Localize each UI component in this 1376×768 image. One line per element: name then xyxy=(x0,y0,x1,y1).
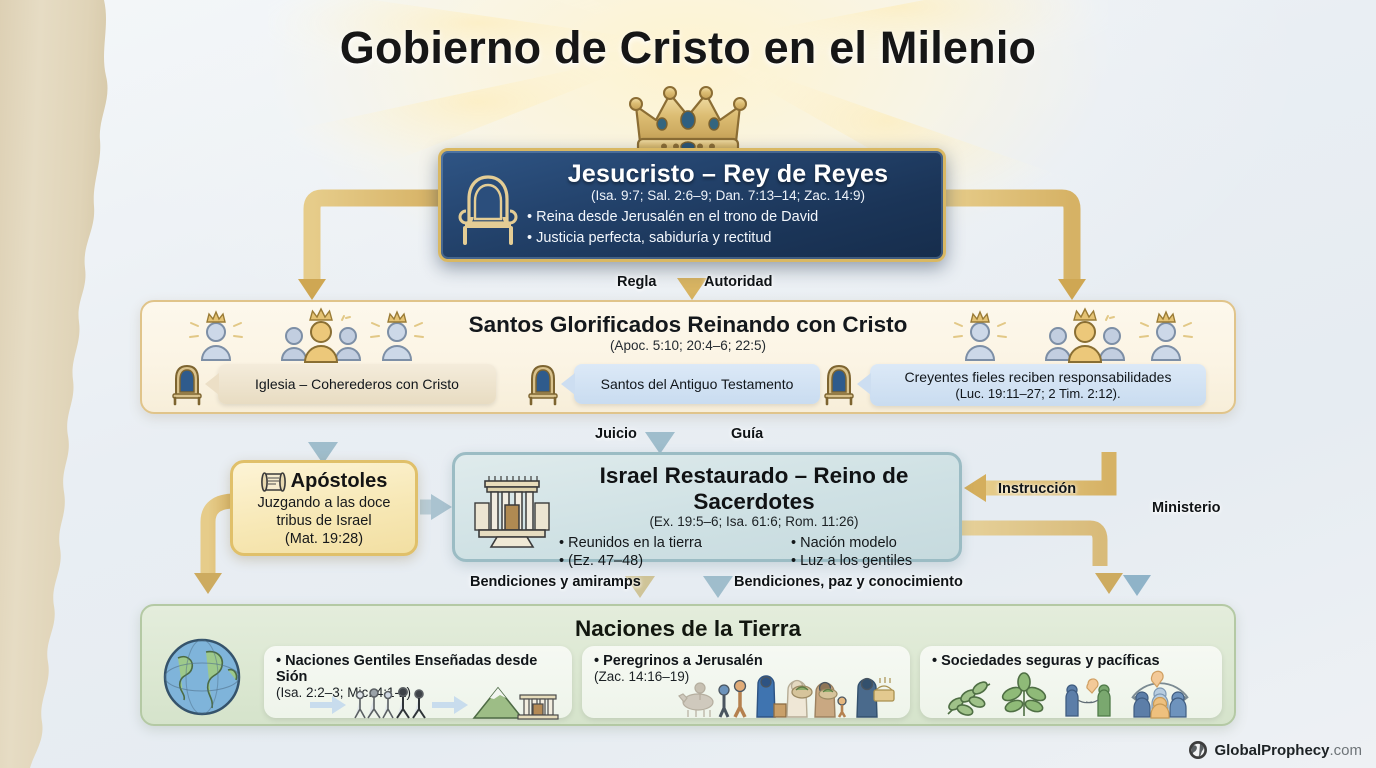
israel-bullet-r1: Nación modelo xyxy=(791,534,912,552)
israel-title: Israel Restaurado – Reino de Sacerdotes xyxy=(559,463,949,515)
christ-title: Jesucristo – Rey de Reyes xyxy=(527,160,929,189)
saints-pill-3-ref: (Luc. 19:11–27; 2 Tim. 2:12). xyxy=(955,386,1120,402)
saints-pill-1-label: Iglesia – Coherederos con Cristo xyxy=(255,376,459,393)
connector-label-regla: Regla xyxy=(617,274,657,290)
christ-refs: (Isa. 9:7; Sal. 2:6–9; Dan. 7:13–14; Zac… xyxy=(527,188,929,203)
nations-card-1: Naciones Gentiles Enseñadas desde Sión (… xyxy=(264,646,572,718)
nations-card-3-heading: Sociedades seguras y pacíficas xyxy=(932,653,1212,669)
throne-icon-1 xyxy=(170,363,204,405)
connector-label-instruccion: Instrucción xyxy=(998,481,1076,497)
saints-pill-3-label: Creyentes fieles reciben responsabilidad… xyxy=(905,369,1172,386)
page-title: Gobierno de Cristo en el Milenio xyxy=(0,22,1376,74)
footer-brand-name: GlobalProphecy xyxy=(1214,742,1329,759)
apostles-ref: (Mat. 19:28) xyxy=(233,531,415,549)
footer-brand[interactable]: GlobalProphecy.com xyxy=(1188,740,1362,760)
glorified-saints-panel: Santos Glorificados Reinando con Cristo … xyxy=(140,300,1236,414)
peaceful-society-illustration xyxy=(940,668,1210,718)
christ-bullet-1: Reina desde Jerusalén en el trono de Dav… xyxy=(527,207,929,228)
crowned-saints-group-right xyxy=(950,310,1200,366)
apostles-body: Juzgando a las doce tribus de Israel (Ma… xyxy=(233,495,415,549)
saints-pill-1[interactable]: Iglesia – Coherederos con Cristo xyxy=(218,364,496,404)
connector-label-bendiciones-amiramps: Bendiciones y amiramps xyxy=(470,574,641,590)
temple-icon xyxy=(471,473,553,551)
connector-label-ministerio: Ministerio xyxy=(1152,500,1220,516)
israel-bullet-r2: Luz a los gentiles xyxy=(791,552,912,570)
israel-restored-box: Israel Restaurado – Reino de Sacerdotes … xyxy=(452,452,962,562)
nations-title: Naciones de la Tierra xyxy=(142,616,1234,642)
globe-icon xyxy=(158,636,246,718)
nations-panel: Naciones de la Tierra Naciones Gentiles … xyxy=(140,604,1236,726)
israel-bullets-left: Reunidos en la tierra (Ez. 47–48) xyxy=(559,534,769,571)
nations-card-2: Peregrinos a Jerusalén (Zac. 14:16–19) xyxy=(582,646,910,718)
saints-pill-3[interactable]: Creyentes fieles reciben responsabilidad… xyxy=(870,364,1206,406)
arrow-right-icon xyxy=(310,696,346,714)
mountain-temple-icon xyxy=(518,695,558,719)
nations-card-3: Sociedades seguras y pacíficas xyxy=(920,646,1222,718)
infographic-canvas: Gobierno de Cristo en el Milenio J xyxy=(0,0,1376,768)
connector-label-guia: Guía xyxy=(731,426,763,442)
christ-bullets: Reina desde Jerusalén en el trono de Dav… xyxy=(527,207,929,248)
apostles-box: Apóstoles Juzgando a las doce tribus de … xyxy=(230,460,418,556)
footer-brand-tld: .com xyxy=(1329,742,1362,759)
israel-bullet-l1: Reunidos en la tierra xyxy=(559,534,769,552)
nations-card-2-heading: Peregrinos a Jerusalén xyxy=(594,653,900,669)
community-group-icon xyxy=(1132,671,1188,718)
walking-people-icon xyxy=(355,688,425,718)
christ-bullet-2: Justicia perfecta, sabiduría y rectitud xyxy=(527,228,929,249)
apostles-line1: Juzgando a las doce xyxy=(233,495,415,513)
olive-branch-icon xyxy=(947,680,990,717)
two-people-heart-icon xyxy=(1066,679,1110,716)
israel-bullets-right: Nación modelo Luz a los gentiles xyxy=(791,534,912,571)
israel-refs: (Ex. 19:5–6; Isa. 61:6; Rom. 11:26) xyxy=(559,514,949,529)
scroll-icon xyxy=(261,471,286,493)
plant-icon xyxy=(1001,673,1048,716)
throne-icon-2 xyxy=(526,363,560,405)
pilgrims-illustration xyxy=(676,670,906,718)
teaching-from-zion-illustration xyxy=(308,686,568,720)
apostles-title: Apóstoles xyxy=(291,470,388,493)
saints-pill-2-label: Santos del Antiguo Testamento xyxy=(601,376,794,393)
nations-card-1-heading: Naciones Gentiles Enseñadas desde Sión xyxy=(276,653,562,685)
christ-king-banner: Jesucristo – Rey de Reyes (Isa. 9:7; Sal… xyxy=(438,148,946,262)
throne-icon-3 xyxy=(822,363,856,405)
israel-bullet-l2: (Ez. 47–48) xyxy=(559,552,769,570)
israel-bullet-columns: Reunidos en la tierra (Ez. 47–48) Nación… xyxy=(559,534,949,571)
connector-label-bendiciones-paz: Bendiciones, paz y conocimiento xyxy=(734,574,963,590)
throne-icon xyxy=(457,173,519,245)
arrow-right-icon xyxy=(432,696,468,714)
donkey-rider-icon xyxy=(679,683,713,717)
apostles-line2: tribus de Israel xyxy=(233,513,415,531)
connector-label-autoridad: Autoridad xyxy=(704,274,772,290)
crowned-saints-group-left xyxy=(176,310,426,366)
crown-icon xyxy=(624,84,752,156)
footer-brand-text: GlobalProphecy.com xyxy=(1214,742,1362,759)
parchment-edge xyxy=(0,0,132,768)
saints-pill-2[interactable]: Santos del Antiguo Testamento xyxy=(574,364,820,404)
connector-label-juicio: Juicio xyxy=(595,426,637,442)
saints-pill-row: Iglesia – Coherederos con Cristo Santos … xyxy=(156,364,1220,408)
globe-logo-icon xyxy=(1188,740,1208,760)
apostles-title-row: Apóstoles xyxy=(233,470,415,493)
